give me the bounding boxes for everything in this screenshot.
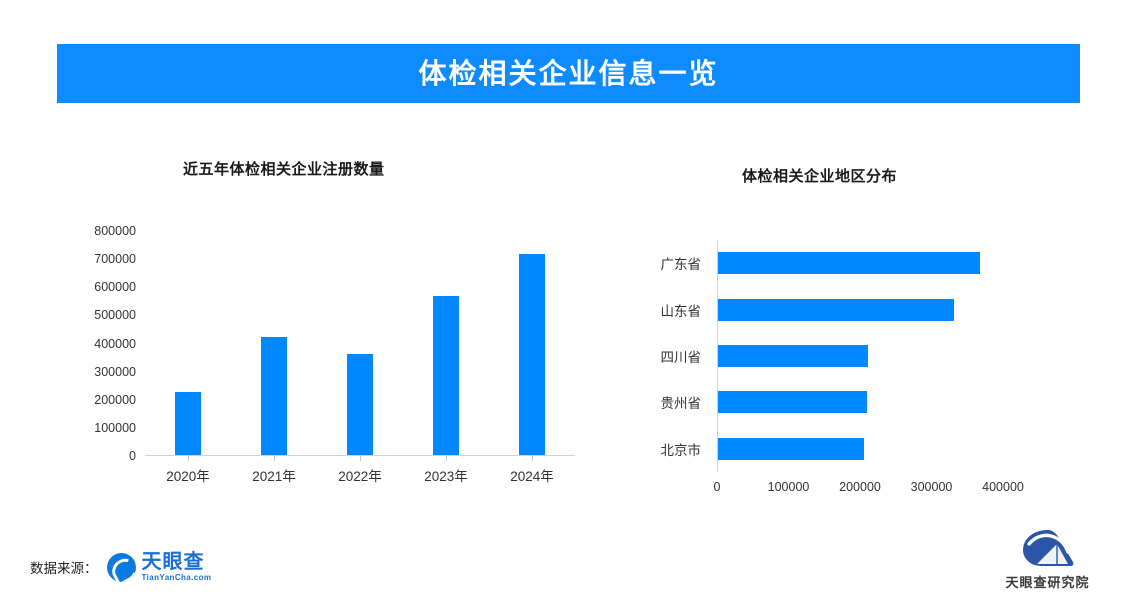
research-institute-brand: 天眼查研究院 xyxy=(1000,528,1095,591)
tianyancha-logo: 天眼查 TianYanCha.com xyxy=(107,552,212,582)
tianyancha-eye-icon xyxy=(107,553,136,582)
right-chart-title: 体检相关企业地区分布 xyxy=(742,165,897,186)
right-chart-x-tick-label: 400000 xyxy=(982,480,1024,494)
right-chart-bar xyxy=(718,391,867,413)
right-chart-x-tick-label: 100000 xyxy=(768,480,810,494)
right-chart-x-tick-label: 200000 xyxy=(839,480,881,494)
infographic-page: 体检相关企业信息一览 近五年体检相关企业注册数量 800000700000600… xyxy=(0,0,1136,613)
chart-region-distribution: 体检相关企业地区分布 广东省山东省四川省贵州省北京市01000002000003… xyxy=(0,0,1136,520)
right-chart-category-label: 贵州省 xyxy=(661,392,702,412)
research-institute-label: 天眼查研究院 xyxy=(1005,572,1089,591)
right-chart-x-tick-label: 0 xyxy=(714,480,721,494)
data-source: 数据来源： 天眼查 TianYanCha.com xyxy=(30,552,211,582)
right-chart-category-label: 四川省 xyxy=(661,346,702,366)
right-chart-category-label: 北京市 xyxy=(661,439,702,459)
research-institute-icon xyxy=(1021,528,1075,568)
right-chart-bar xyxy=(718,252,980,274)
right-chart-category-label: 山东省 xyxy=(661,300,702,320)
tianyancha-name-en: TianYanCha.com xyxy=(142,574,212,582)
tianyancha-wordmark: 天眼查 TianYanCha.com xyxy=(142,552,212,582)
right-chart-bar xyxy=(718,299,954,321)
right-chart-bar xyxy=(718,438,864,460)
right-chart-bar xyxy=(718,345,868,367)
tianyancha-name-cn: 天眼查 xyxy=(142,552,212,572)
data-source-label: 数据来源： xyxy=(30,557,98,577)
right-chart-plot-area: 广东省山东省四川省贵州省北京市0100000200000300000400000 xyxy=(717,240,1003,472)
right-chart-x-tick-label: 300000 xyxy=(911,480,953,494)
right-chart-category-label: 广东省 xyxy=(661,253,702,273)
